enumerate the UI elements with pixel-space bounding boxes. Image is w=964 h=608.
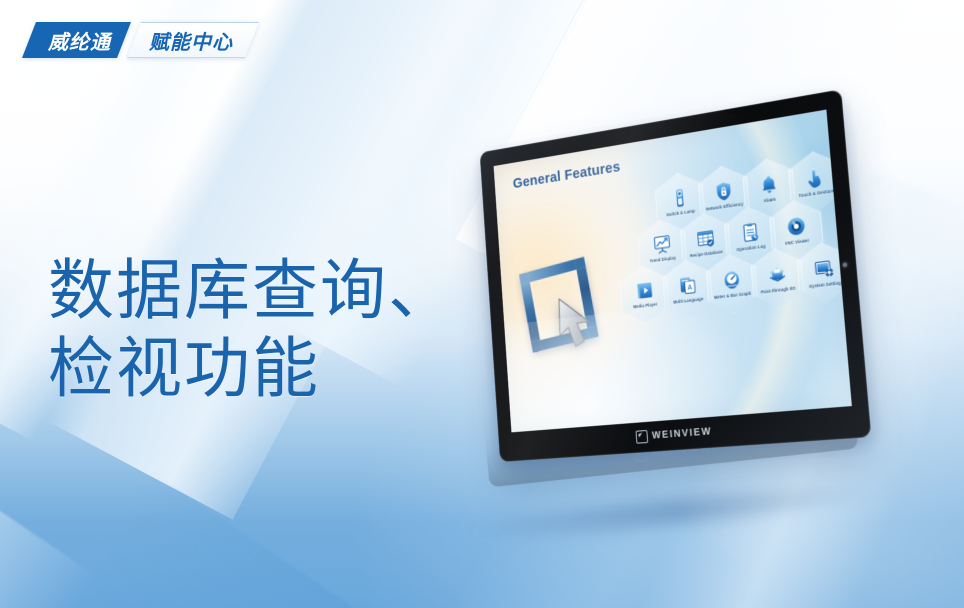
feature-tile-shield-lock[interactable]: Network Efficiency [697,162,751,228]
feature-tile-label: Operation Log [727,243,776,254]
page-title: 数据库查询、 检视功能 [48,252,456,408]
feature-tile-label: Trend Display [640,255,686,266]
feature-tile-clipboard-clock[interactable]: Operation Log [723,203,778,269]
clipboard-clock-icon [739,220,761,247]
badge-company-name: 威纶通 [22,22,131,58]
shield-lock-icon [713,179,735,206]
screen-title: General Features [512,158,620,192]
feature-tile-label: Switch & Lamp [658,208,704,219]
feature-tile-system-setting[interactable]: System Setting [795,239,852,306]
switch-lamp-icon [669,186,690,213]
feature-tile-hand-touch[interactable]: Touch & Gesture [787,147,844,215]
grey-cursor-shape [554,294,609,355]
feature-tile-passthrough-io[interactable]: Pass-through I/O [749,245,805,311]
page-canvas: 威纶通 赋能中心 数据库查询、 检视功能 WEINVIEW General Fe… [0,0,964,608]
hand-touch-icon [803,165,826,193]
passthrough-io-icon [766,262,789,289]
feature-tile-label: VNC Viewer [772,237,822,248]
feature-tile-label: Alarm [745,195,794,207]
system-setting-icon [812,256,835,284]
feature-tile-label: System Setting [800,280,851,291]
feature-tile-label: Meter & Bar Graph [709,291,757,301]
feature-tile-label: Multi-Language [665,296,712,306]
multi-language-icon: A [677,273,698,299]
hmi-screen[interactable]: General Features [494,110,852,433]
feature-tile-multi-language[interactable]: AMulti-Language [661,257,714,321]
feature-tile-label: Recipe Database [683,249,730,260]
hmi-device: General Features [462,120,932,540]
bell-icon [757,172,779,199]
vnc-eye-icon [784,214,807,242]
device-bezel: General Features [480,89,872,462]
feature-tile-label: Network Efficiency [701,201,749,213]
database-table-icon [694,226,716,253]
feature-tile-database-table[interactable]: Recipe Database [679,210,732,275]
frame-and-cursor-graphic [516,250,629,376]
brand-badge: 威纶通 赋能中心 [22,22,259,58]
trend-chart-icon [651,232,672,258]
svg-text:A: A [687,284,692,292]
cursor-square-icon [635,430,648,444]
feature-tile-label: Media Player [623,301,668,311]
feature-tile-label: Pass-through I/O [754,285,804,296]
feature-tile-vnc-eye[interactable]: VNC Viewer [768,196,825,263]
feature-tile-grid: Switch & LampNetwork EfficiencyAlarmTouc… [613,148,850,374]
feature-tile-gauge-meter[interactable]: Meter & Bar Graph [705,251,759,316]
badge-subtitle: 赋能中心 [127,22,259,58]
device-brand-label: WEINVIEW [652,426,713,441]
gauge-meter-icon [720,268,742,295]
feature-tile-bell[interactable]: Alarm [741,155,797,222]
power-led [843,263,847,268]
feature-tile-label: Touch & Gesture [791,188,842,200]
media-play-icon [634,279,655,305]
